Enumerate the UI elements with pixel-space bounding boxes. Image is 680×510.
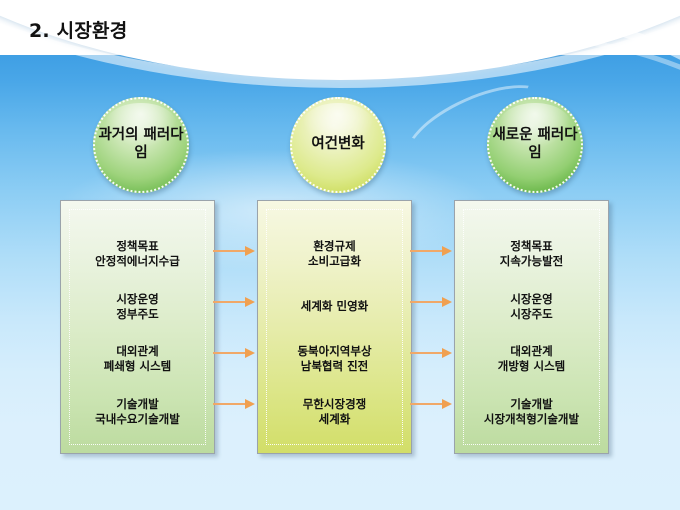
arrow-shaft [213,250,246,252]
slide-canvas: 2. 시장환경 과거의 패러다임 여건변화 새로운 패러다임 정책목표 안정적에… [0,0,680,510]
list-item: 기술개발 국내수요기술개발 [70,392,205,433]
arrow-head [245,297,255,307]
arrow-head [442,399,452,409]
list-item: 정책목표 안정적에너지수급 [70,234,205,275]
arrow-head [245,246,255,256]
panel-new-paradigm[interactable]: 정책목표 지속가능발전 시장운영 시장주도 대외관계 개방형 시스템 기술개발 … [454,200,609,454]
arrow-shaft [410,250,443,252]
circle-past-paradigm[interactable]: 과거의 패러다임 [93,97,189,193]
circle-changing-conditions-label: 여건변화 [311,136,364,154]
arrow-right-icon [410,245,452,257]
list-item: 대외관계 폐쇄형 시스템 [70,339,205,380]
arrow-shaft [213,403,246,405]
circle-new-paradigm-label: 새로운 패러다임 [487,127,583,162]
list-item: 정책목표 지속가능발전 [464,234,599,275]
circle-past-paradigm-label: 과거의 패러다임 [93,127,189,162]
arrow-right-icon [213,347,255,359]
panel-changing-conditions[interactable]: 환경규제 소비고급화 세계화 민영화 동북아지역부상 남북협력 진전 무한시장경… [257,200,412,454]
arrow-right-icon [410,296,452,308]
arrow-shaft [410,352,443,354]
arrow-right-icon [213,296,255,308]
arrow-right-icon [213,245,255,257]
arrow-head [442,348,452,358]
panel-change-rows: 환경규제 소비고급화 세계화 민영화 동북아지역부상 남북협력 진전 무한시장경… [267,210,402,444]
arrow-head [245,348,255,358]
circle-new-paradigm[interactable]: 새로운 패러다임 [487,97,583,193]
arrow-head [442,246,452,256]
arrow-right-icon [213,398,255,410]
arrow-right-icon [410,347,452,359]
arrow-right-icon [410,398,452,410]
list-item: 시장운영 정부주도 [70,287,205,328]
arrow-shaft [213,352,246,354]
arrow-head [442,297,452,307]
list-item: 대외관계 개방형 시스템 [464,339,599,380]
list-item: 무한시장경쟁 세계화 [267,392,402,433]
panel-past-rows: 정책목표 안정적에너지수급 시장운영 정부주도 대외관계 폐쇄형 시스템 기술개… [70,210,205,444]
list-item: 세계화 민영화 [267,287,402,328]
panel-past-paradigm[interactable]: 정책목표 안정적에너지수급 시장운영 정부주도 대외관계 폐쇄형 시스템 기술개… [60,200,215,454]
arrow-shaft [410,403,443,405]
list-item: 환경규제 소비고급화 [267,234,402,275]
arrow-shaft [213,301,246,303]
list-item: 기술개발 시장개척형기술개발 [464,392,599,433]
list-item: 시장운영 시장주도 [464,287,599,328]
list-item: 동북아지역부상 남북협력 진전 [267,339,402,380]
arrow-head [245,399,255,409]
panel-new-rows: 정책목표 지속가능발전 시장운영 시장주도 대외관계 개방형 시스템 기술개발 … [464,210,599,444]
circle-changing-conditions[interactable]: 여건변화 [290,97,386,193]
arrow-shaft [410,301,443,303]
page-title: 2. 시장환경 [29,16,127,43]
